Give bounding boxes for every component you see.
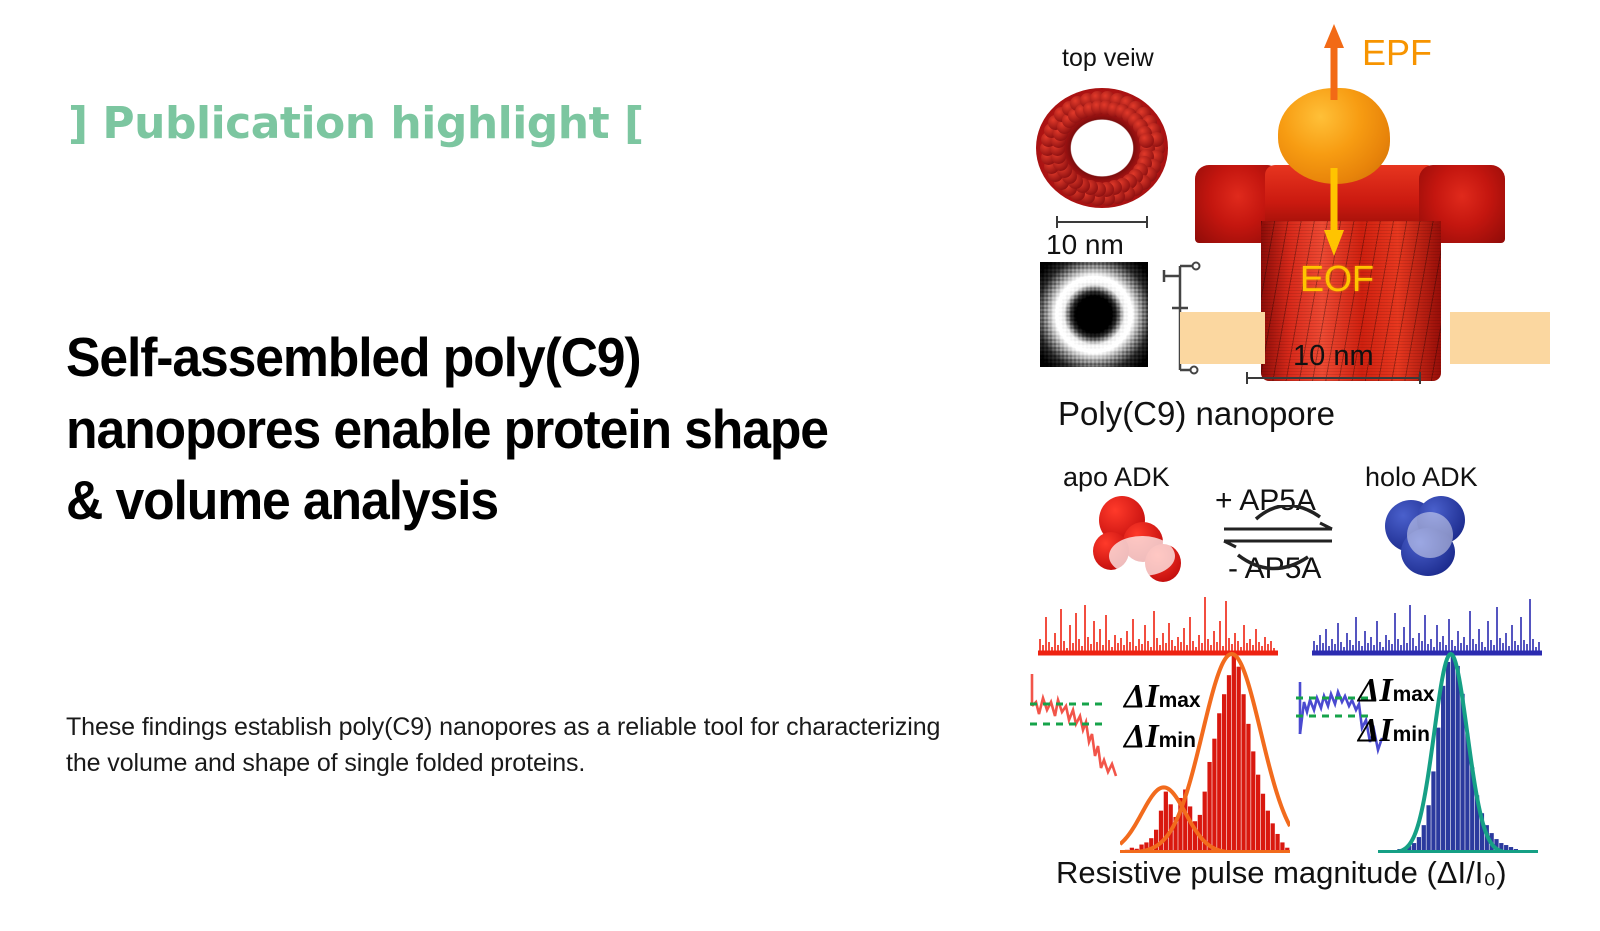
histogram-bar (1441, 686, 1445, 853)
histogram-bar (1426, 805, 1430, 853)
scale-bar-bottom (1246, 372, 1421, 386)
histogram-bar (1436, 728, 1440, 853)
apo-event-trace (1030, 672, 1122, 784)
histogram-bar (1446, 662, 1450, 853)
histogram-bar (1237, 667, 1241, 853)
apo-adk-label: apo ADK (1063, 462, 1170, 493)
holo-adk-structure (1385, 496, 1471, 578)
histogram-bar (1227, 675, 1231, 853)
publication-highlight-slide: ] Publication highlight [ Self-assembled… (0, 0, 1600, 931)
publication-figure: top veiw {} 10 nm (1010, 0, 1600, 931)
histogram-bar (1266, 811, 1270, 853)
lipid-membrane-left (1180, 312, 1265, 364)
epf-label: EPF (1362, 32, 1432, 74)
kicker-label: ] Publication highlight [ (68, 98, 644, 149)
histogram-bar (1456, 666, 1460, 853)
scale-bar-top-label: 10 nm (1046, 229, 1124, 261)
histogram-bar (1188, 806, 1192, 853)
histogram-bar (1212, 739, 1216, 853)
nanopore-top-view-icon: {} (1036, 88, 1168, 208)
eof-arrow-icon (1323, 168, 1345, 258)
histogram-bar (1241, 694, 1245, 853)
histogram-bar (1256, 775, 1260, 853)
histogram-bar (1251, 751, 1255, 853)
holo-adk-label: holo ADK (1365, 462, 1478, 493)
histogram-bar (1232, 654, 1236, 853)
histogram-bar (1422, 825, 1426, 853)
histogram-bar (1159, 811, 1163, 853)
holo-adk-histogram (1378, 648, 1538, 853)
histogram-bar (1271, 823, 1275, 853)
nanopore-caption: Poly(C9) nanopore (1058, 395, 1335, 433)
x-axis-label: Resistive pulse magnitude (ΔI/I₀) (1056, 855, 1507, 891)
eof-label: EOF (1300, 258, 1374, 300)
histogram-bar (1261, 794, 1265, 853)
histogram-bar (1217, 713, 1221, 853)
page-title: Self-assembled poly(C9) nanopores enable… (66, 322, 865, 537)
equilibrium-arrows-icon (1208, 505, 1348, 575)
epf-arrow-icon (1323, 22, 1345, 100)
scale-bar-bottom-label: 10 nm (1293, 340, 1374, 373)
lipid-membrane-right (1450, 312, 1550, 364)
histogram-bar (1246, 724, 1250, 853)
scale-bar-top (1056, 216, 1148, 228)
apo-adk-structure (1093, 496, 1185, 586)
apo-adk-histogram (1120, 648, 1290, 853)
top-view-label: top veiw (1062, 44, 1154, 73)
body-paragraph: These findings establish poly(C9) nanopo… (66, 710, 966, 781)
em-micrograph-image (1040, 262, 1148, 367)
histogram-bar (1431, 771, 1435, 853)
text-column: ] Publication highlight [ Self-assembled… (0, 0, 1000, 931)
histogram-bar (1222, 694, 1226, 853)
histogram-bar (1207, 762, 1211, 853)
histogram-bar (1451, 654, 1455, 853)
histogram-bar (1164, 792, 1168, 853)
histogram-bar (1154, 830, 1158, 853)
